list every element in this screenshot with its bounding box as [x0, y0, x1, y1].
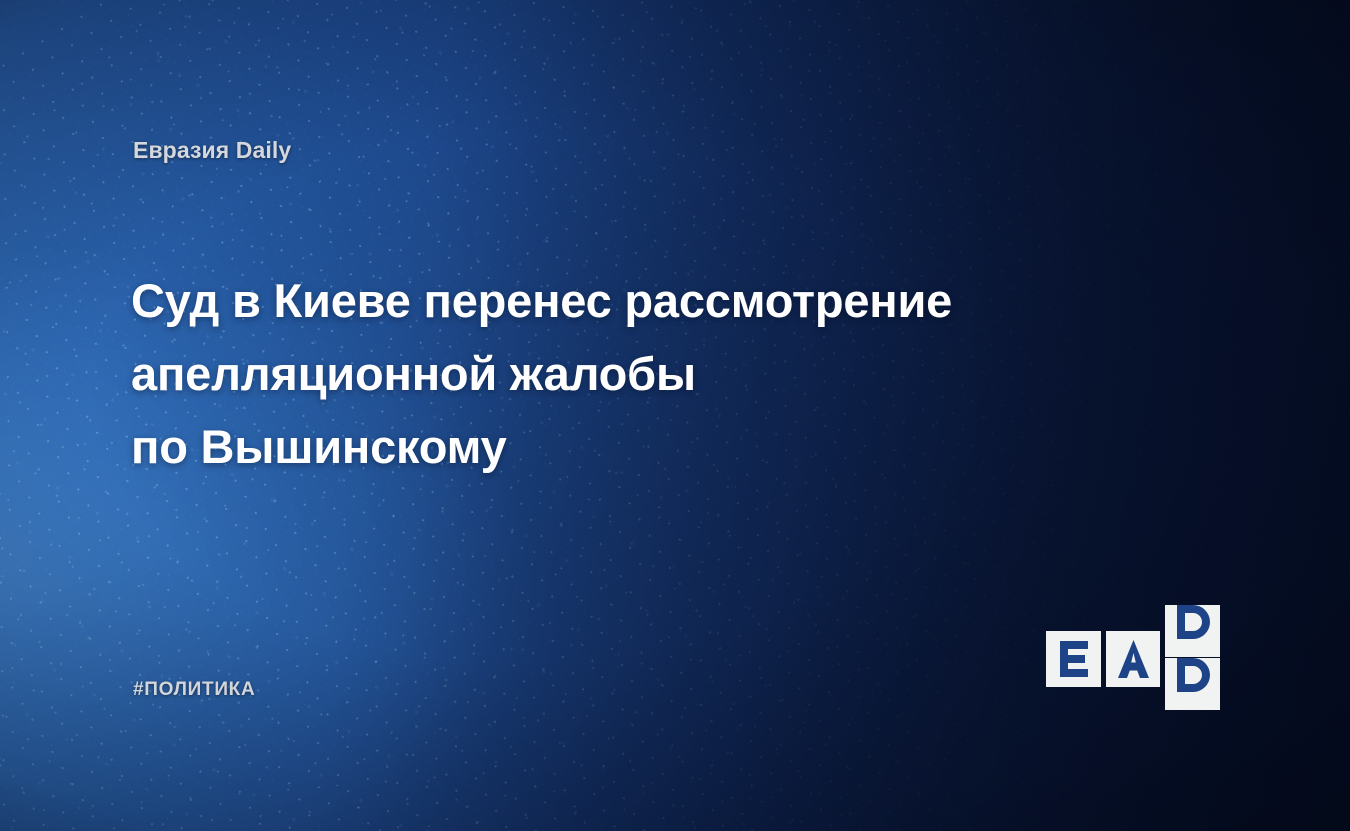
headline-line-2: апелляционной жалобы: [131, 337, 1131, 410]
headline-line-1: Суд в Киеве перенес рассмотрение: [131, 264, 1131, 337]
letter-d-lower-icon: [1165, 658, 1220, 714]
headline-line-3: по Вышинскому: [131, 410, 1131, 483]
news-card: Евразия Daily Суд в Киеве перенес рассмо…: [0, 0, 1350, 831]
letter-a-icon: [1106, 631, 1161, 687]
logo-tile-a: [1106, 631, 1161, 687]
page-title: Суд в Киеве перенес рассмотрение апелляц…: [131, 264, 1131, 483]
letter-e-icon: [1046, 631, 1101, 687]
logo-tile-e: [1046, 631, 1101, 687]
brand-wordmark: Евразия Daily: [133, 137, 291, 164]
ead-logo[interactable]: [1046, 631, 1220, 687]
card-content: Евразия Daily Суд в Киеве перенес рассмо…: [0, 0, 1350, 831]
logo-tile-d: [1165, 631, 1220, 687]
category-hashtag[interactable]: #ПОЛИТИКА: [133, 679, 255, 701]
letter-d-upper-icon: [1165, 605, 1220, 661]
